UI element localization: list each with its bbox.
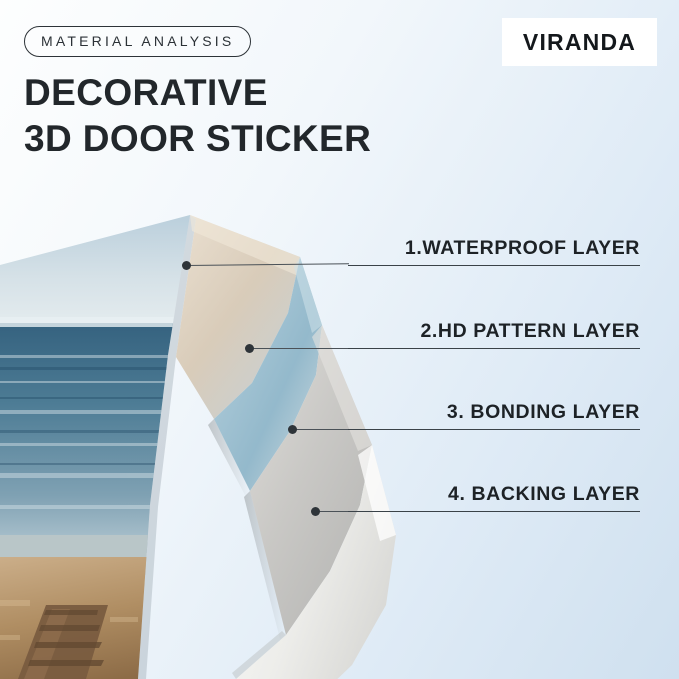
eyebrow-badge: MATERIAL ANALYSIS xyxy=(24,26,251,57)
brand-logo: VIRANDA xyxy=(502,18,657,66)
callout-rule-4 xyxy=(348,511,640,512)
peeled-sticker-illustration xyxy=(0,205,430,679)
callout-label-1: 1.WATERPROOF LAYER xyxy=(405,237,640,260)
callout-waterproof-layer: 1.WATERPROOF LAYER xyxy=(348,232,640,266)
callout-backing-layer: 4. BACKING LAYER xyxy=(348,478,640,512)
callout-hd-pattern-layer: 2.HD PATTERN LAYER xyxy=(348,315,640,349)
callout-rule-3 xyxy=(348,429,640,430)
brand-name: VIRANDA xyxy=(523,29,636,56)
callout-label-4: 4. BACKING LAYER xyxy=(448,483,640,506)
page-title: DECORATIVE 3D DOOR STICKER xyxy=(24,70,371,162)
page-title-line-1: DECORATIVE xyxy=(24,72,268,113)
poster-canvas: MATERIAL ANALYSIS DECORATIVE 3D DOOR STI… xyxy=(0,0,679,679)
callout-bonding-layer: 3. BONDING LAYER xyxy=(348,396,640,430)
callout-rule-1 xyxy=(348,265,640,266)
callout-label-2: 2.HD PATTERN LAYER xyxy=(420,320,640,343)
callout-rule-2 xyxy=(348,348,640,349)
page-title-line-2: 3D DOOR STICKER xyxy=(24,116,371,162)
callout-label-3: 3. BONDING LAYER xyxy=(447,401,640,424)
